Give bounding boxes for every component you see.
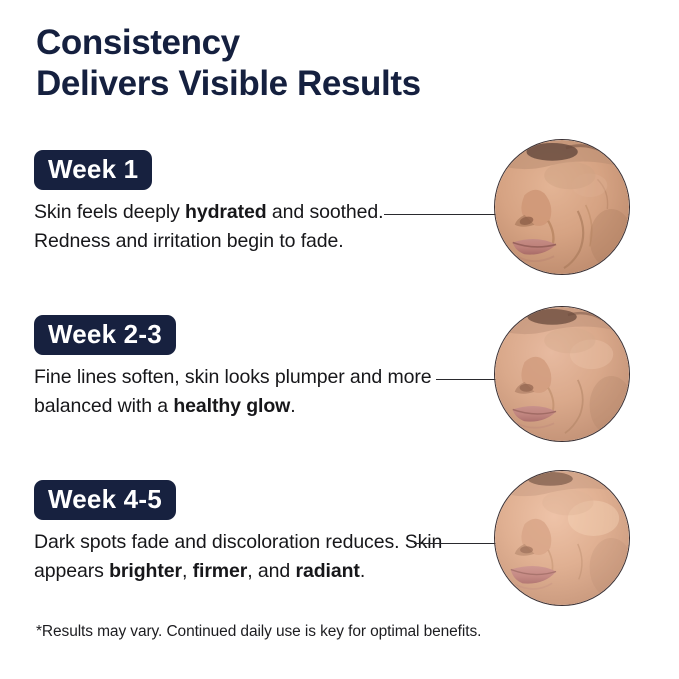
step-block-week-2-3: Week 2-3 Fine lines soften, skin looks p… [34, 315, 454, 421]
description-week-4-5: Dark spots fade and discoloration reduce… [34, 528, 454, 586]
connector-line-week-1 [384, 214, 498, 215]
page-title: Consistency Delivers Visible Results [36, 22, 636, 104]
page-title-line-2: Delivers Visible Results [36, 63, 636, 104]
page-title-line-1: Consistency [36, 22, 636, 63]
infographic-root: Consistency Delivers Visible Results Wee… [0, 0, 679, 679]
step-block-week-1: Week 1 Skin feels deeply hydrated and so… [34, 150, 454, 256]
face-closeup-illustration-week-2-3 [495, 307, 629, 441]
badge-week-2-3: Week 2-3 [34, 315, 176, 355]
face-closeup-illustration-week-1 [495, 140, 629, 274]
photo-week-1 [494, 139, 630, 275]
badge-week-1: Week 1 [34, 150, 152, 190]
description-week-1: Skin feels deeply hydrated and soothed. … [34, 198, 454, 256]
face-closeup-illustration-week-4-5 [495, 471, 629, 605]
badge-week-4-5: Week 4-5 [34, 480, 176, 520]
description-week-2-3: Fine lines soften, skin looks plumper an… [34, 363, 454, 421]
step-block-week-4-5: Week 4-5 Dark spots fade and discolorati… [34, 480, 454, 586]
footnote-disclaimer: *Results may vary. Continued daily use i… [36, 622, 481, 642]
connector-line-week-4-5 [414, 543, 498, 544]
connector-line-week-2-3 [436, 379, 498, 380]
photo-week-2-3 [494, 306, 630, 442]
photo-week-4-5 [494, 470, 630, 606]
